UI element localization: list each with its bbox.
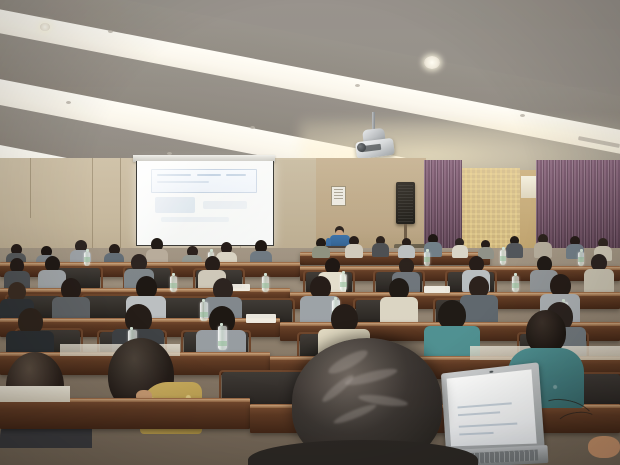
slide-text-line bbox=[226, 174, 246, 176]
downlight-icon bbox=[424, 56, 440, 69]
wall-notice-sign bbox=[331, 186, 346, 206]
water-bottle bbox=[340, 274, 347, 291]
wall-seam bbox=[30, 158, 31, 218]
slide-text-line bbox=[197, 174, 221, 176]
audience-member bbox=[372, 236, 389, 256]
handout-paper bbox=[424, 286, 450, 293]
smoke-detector-icon bbox=[108, 30, 113, 33]
desk-row bbox=[0, 398, 250, 429]
slide-text-line bbox=[157, 181, 209, 183]
audience-member bbox=[452, 238, 468, 257]
wall-speaker bbox=[396, 182, 415, 224]
audience-member bbox=[345, 236, 363, 256]
water-bottle bbox=[218, 326, 227, 350]
laptop-lid bbox=[441, 362, 545, 453]
smoke-detector-icon bbox=[66, 101, 71, 104]
smoke-detector-icon bbox=[520, 114, 525, 117]
slide-text-line bbox=[157, 174, 191, 176]
water-bottle bbox=[500, 250, 506, 265]
water-bottle bbox=[84, 252, 90, 266]
downlight-icon bbox=[40, 23, 50, 31]
audience-member bbox=[398, 238, 415, 257]
slide-graphic bbox=[203, 201, 247, 209]
audience-member bbox=[506, 236, 523, 257]
audience-member bbox=[312, 238, 330, 256]
water-bottle bbox=[262, 276, 269, 292]
water-bottle bbox=[512, 276, 519, 292]
handout-paper bbox=[246, 314, 276, 323]
conference-room-photo bbox=[0, 0, 620, 465]
smoke-detector-icon bbox=[355, 84, 360, 87]
water-bottle bbox=[170, 276, 177, 292]
water-bottle bbox=[424, 252, 430, 266]
smoke-detector-icon bbox=[250, 126, 255, 129]
desk-front-panel bbox=[0, 386, 70, 402]
ceiling-projector bbox=[352, 112, 398, 162]
audience-member bbox=[380, 278, 418, 324]
audience-member bbox=[534, 234, 552, 257]
projection-screen bbox=[136, 161, 274, 246]
hand bbox=[588, 436, 620, 458]
laptop-screen bbox=[447, 369, 537, 446]
wall-light-fixture bbox=[521, 176, 536, 198]
slide-graphic bbox=[161, 217, 229, 222]
audience-member bbox=[584, 254, 614, 292]
slide-graphic bbox=[155, 197, 195, 213]
